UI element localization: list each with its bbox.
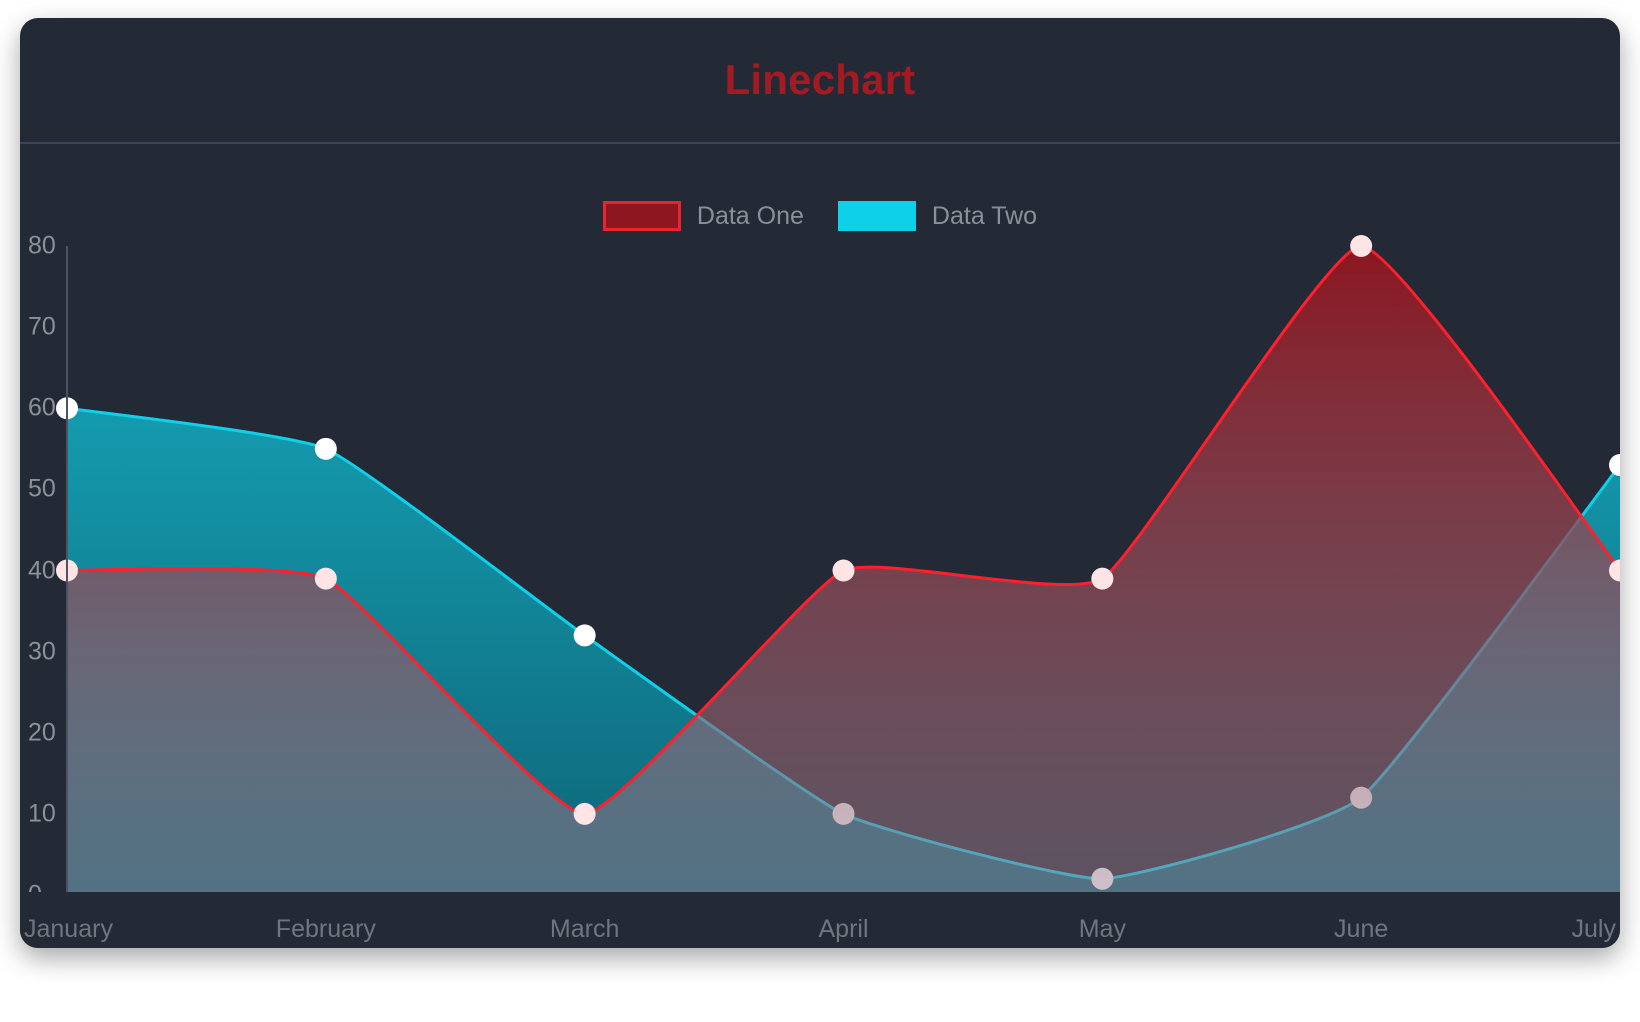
data-point[interactable]	[1091, 568, 1113, 590]
linechart-card: Linechart Data One Data Two 010203040506…	[20, 18, 1620, 948]
y-axis-tick-label: 70	[28, 313, 56, 342]
data-point[interactable]	[1609, 454, 1620, 476]
data-point[interactable]	[1350, 235, 1372, 257]
x-axis-tick-label: March	[550, 915, 619, 944]
data-point[interactable]	[574, 803, 596, 825]
data-point[interactable]	[315, 438, 337, 460]
y-axis-tick-label: 10	[28, 799, 56, 828]
x-axis-tick-label: April	[818, 915, 868, 944]
x-axis-tick-label: May	[1079, 915, 1126, 944]
x-axis-tick-label: June	[1334, 915, 1388, 944]
y-axis-tick-label: 80	[28, 232, 56, 261]
y-axis-tick-label: 40	[28, 556, 56, 585]
chart-plot-area	[20, 18, 1620, 948]
y-axis-tick-label: 20	[28, 718, 56, 747]
data-point[interactable]	[315, 568, 337, 590]
x-axis-tick-label: July	[1572, 915, 1616, 944]
y-axis-tick-label: 50	[28, 475, 56, 504]
x-axis-tick-label: February	[276, 915, 376, 944]
data-point[interactable]	[833, 560, 855, 582]
x-axis-tick-label: January	[24, 915, 113, 944]
data-point[interactable]	[574, 624, 596, 646]
y-axis-tick-label: 60	[28, 394, 56, 423]
y-axis-tick-label: 30	[28, 637, 56, 666]
